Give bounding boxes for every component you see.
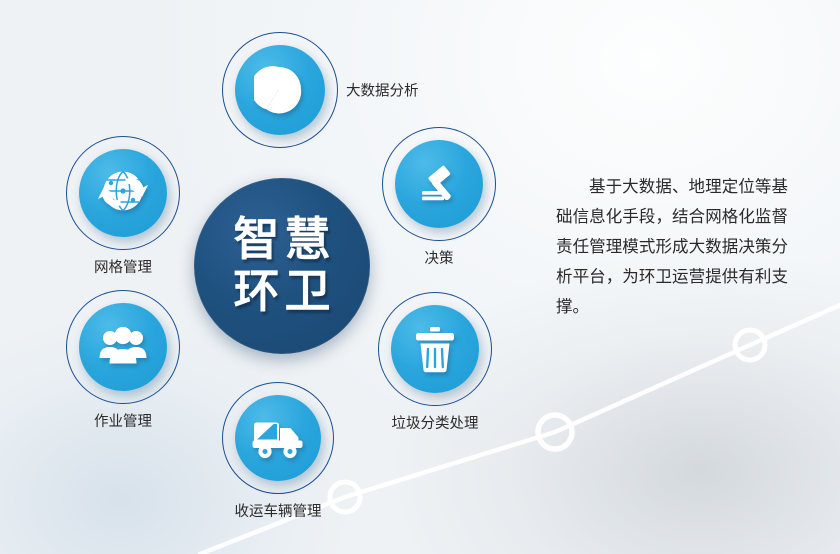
node-disc xyxy=(391,305,479,393)
central-hub: 智慧 环卫 xyxy=(194,178,370,354)
node-ring xyxy=(66,290,180,404)
node-ring xyxy=(222,32,338,148)
node-disc xyxy=(235,395,321,481)
node-ring xyxy=(382,127,496,241)
description-paragraph: 基于大数据、地理定位等基础信息化手段，结合网格化监督责任管理模式形成大数据决策分… xyxy=(556,172,788,322)
infographic-canvas: 智慧 环卫 大数据分析 xyxy=(0,0,840,554)
hub-title-line-2: 环卫 xyxy=(229,266,336,318)
node-label-waste-sorting: 垃圾分类处理 xyxy=(392,412,479,433)
node-work-management[interactable]: 作业管理 xyxy=(66,290,180,404)
node-label-decision: 决策 xyxy=(425,247,454,268)
node-decision[interactable]: 决策 xyxy=(382,127,496,241)
pie-chart-icon xyxy=(254,64,306,116)
node-label-bigdata-analysis: 大数据分析 xyxy=(346,80,419,101)
node-ring xyxy=(222,382,334,494)
node-label-vehicle-management: 收运车辆管理 xyxy=(235,500,322,521)
garbage-truck-icon xyxy=(250,416,306,460)
trash-bin-icon xyxy=(410,323,460,375)
node-ring xyxy=(378,292,492,406)
node-label-work-management: 作业管理 xyxy=(94,410,152,431)
node-ring xyxy=(66,136,180,250)
node-label-grid-management: 网格管理 xyxy=(94,256,152,277)
node-disc xyxy=(395,140,483,228)
node-bigdata-analysis[interactable]: 大数据分析 xyxy=(222,32,338,148)
hub-title-line-1: 智慧 xyxy=(229,214,336,266)
node-disc xyxy=(235,45,325,135)
gavel-icon xyxy=(413,158,465,210)
node-grid-management[interactable]: 网格管理 xyxy=(66,136,180,250)
globe-network-icon xyxy=(96,166,150,220)
node-vehicle-management[interactable]: 收运车辆管理 xyxy=(222,382,334,494)
people-group-icon xyxy=(96,320,150,374)
node-waste-sorting[interactable]: 垃圾分类处理 xyxy=(378,292,492,406)
node-disc xyxy=(79,303,167,391)
node-disc xyxy=(79,149,167,237)
